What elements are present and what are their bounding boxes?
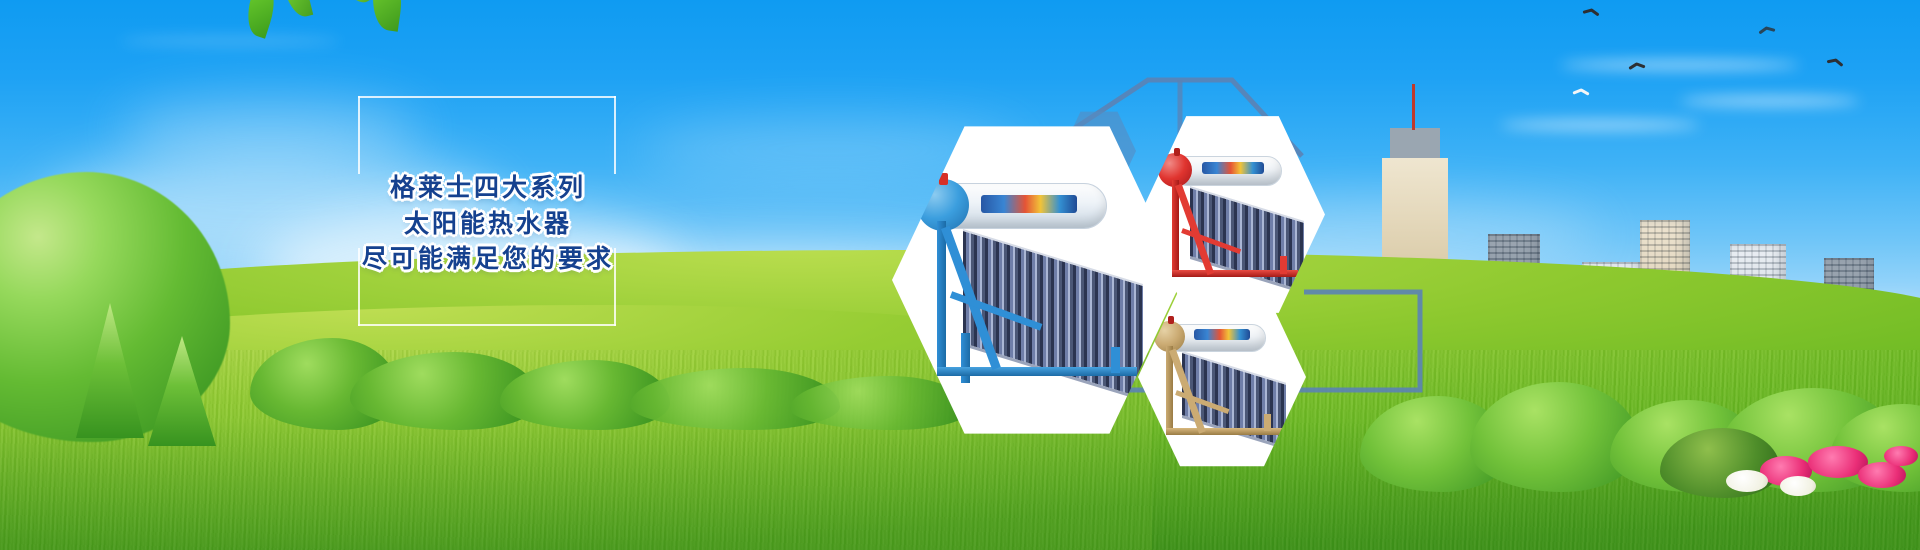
- frame-right-edge-upper: [614, 96, 616, 174]
- blue-solar-water-heater: [915, 171, 1159, 389]
- headline-line-1: 格莱士四大系列: [360, 170, 616, 206]
- flower: [1726, 470, 1768, 492]
- rear-leg: [1111, 347, 1120, 373]
- gold-solar-water-heater: [1154, 316, 1290, 438]
- product-hexagon-group: [880, 60, 1640, 480]
- tank-valve: [1174, 148, 1180, 156]
- headline-block: 格莱士四大系列 太阳能热水器 尽可能满足您的要求: [360, 170, 616, 277]
- cloud-wisp: [1680, 96, 1860, 106]
- rear-leg: [1264, 414, 1271, 431]
- tank-valve: [1168, 316, 1174, 324]
- frame-left-edge-upper: [358, 96, 360, 174]
- flower: [1884, 446, 1918, 466]
- frame-bottom-edge: [358, 324, 616, 326]
- brand-label: [1194, 329, 1250, 340]
- red-solar-water-heater: [1158, 148, 1308, 282]
- cloud-wisp: [120, 36, 340, 46]
- solar-water-heater-hero-banner: 格莱士四大系列 太阳能热水器 尽可能满足您的要求: [0, 0, 1920, 550]
- brand-label: [1202, 162, 1264, 174]
- headline-line-3: 尽可能满足您的要求: [360, 241, 616, 277]
- rear-leg: [1280, 256, 1287, 274]
- base-bar: [937, 367, 1137, 376]
- brand-label: [981, 195, 1077, 213]
- support-leg: [937, 221, 946, 373]
- headline-line-2: 太阳能热水器: [360, 206, 616, 242]
- frame-top-edge: [358, 96, 616, 98]
- flower: [1780, 476, 1816, 496]
